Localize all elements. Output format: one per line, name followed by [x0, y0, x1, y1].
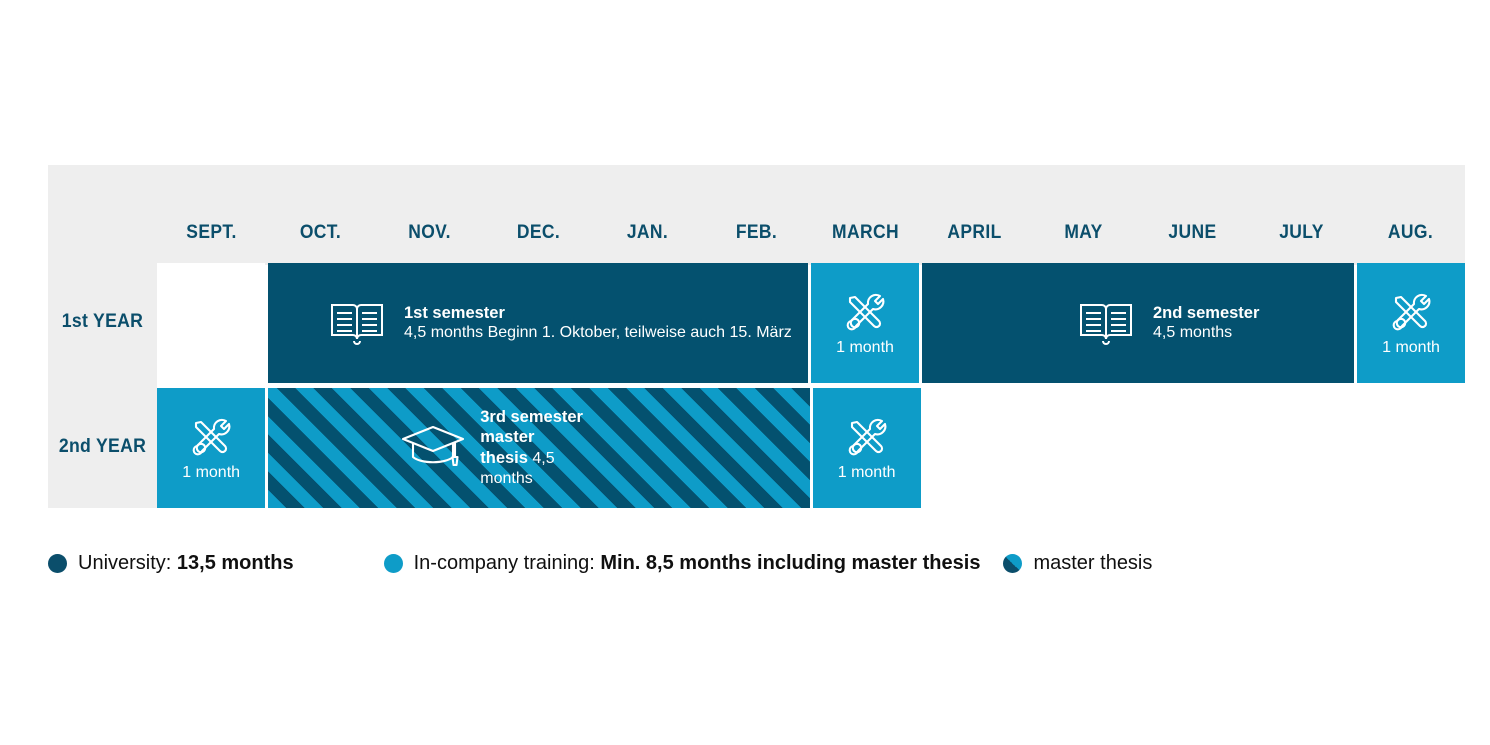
legend-item-master-thesis: master thesis	[1003, 552, 1152, 575]
cell-thesis-title-line1: 3rd semester	[480, 407, 583, 428]
legend-item-university: University: 13,5 months	[48, 552, 294, 575]
cell-1y-1st-semester: 1st semester 4,5 months Beginn 1. Oktobe…	[268, 263, 808, 383]
cell-1st-semester-detail: 4,5 months Beginn 1. Oktober, teilweise …	[404, 323, 792, 343]
infographic-timeline: SEPT. OCT. NOV. DEC. JAN. FEB. MARCH APR…	[0, 0, 1490, 745]
legend: University: 13,5 months In-company train…	[48, 552, 1448, 575]
cell-thesis-detail-unit: months	[480, 469, 583, 489]
cell-1y-sept-empty	[157, 263, 265, 383]
tools-icon	[1388, 290, 1434, 336]
open-book-icon	[328, 301, 386, 345]
legend-swatch-training	[384, 554, 403, 573]
cell-1y-2nd-semester: 2nd semester 4,5 months	[922, 263, 1354, 383]
tools-icon	[188, 415, 234, 461]
timeline-row-1st-year: 1st semester 4,5 months Beginn 1. Oktobe…	[157, 263, 1465, 383]
cell-2y-master-thesis: 3rd semester master thesis 4,5 months	[268, 388, 809, 508]
cell-1y-aug-training: 1 month	[1357, 263, 1465, 383]
month-header-april: APRIL	[924, 222, 1024, 265]
month-header-row: SEPT. OCT. NOV. DEC. JAN. FEB. MARCH APR…	[157, 165, 1465, 265]
cell-2nd-semester-title: 2nd semester	[1153, 303, 1259, 324]
tools-icon	[842, 290, 888, 336]
month-header-feb: FEB.	[706, 222, 806, 265]
tools-icon	[844, 415, 890, 461]
legend-master-thesis-label: master thesis	[1033, 552, 1152, 575]
cell-label-one-month: 1 month	[1382, 340, 1440, 356]
cell-label-one-month: 1 month	[836, 340, 894, 356]
legend-swatch-master-thesis	[1003, 554, 1022, 573]
cell-thesis-detail-number: 4,5	[532, 450, 554, 467]
legend-training-value: Min. 8,5 months including master thesis	[600, 552, 980, 574]
cell-label-one-month: 1 month	[182, 465, 240, 481]
month-header-sept: SEPT.	[161, 222, 261, 265]
timeline-row-2nd-year: 1 month 3rd semester master thesis 4,5 m…	[157, 388, 1465, 508]
row-label-1st-year: 1st YEAR	[52, 311, 153, 333]
cell-2nd-semester-detail: 4,5 months	[1153, 323, 1259, 343]
legend-item-in-company-training: In-company training: Min. 8,5 months inc…	[384, 552, 981, 575]
month-header-nov: NOV.	[379, 222, 479, 265]
cell-2y-march-training: 1 month	[813, 388, 921, 508]
cell-2y-sept-training: 1 month	[157, 388, 265, 508]
month-header-march: MARCH	[815, 222, 915, 265]
cell-label-one-month: 1 month	[838, 465, 896, 481]
cell-thesis-title-line3: thesis	[480, 449, 528, 467]
graduation-cap-icon	[400, 423, 466, 473]
cell-thesis-title-line2: master	[480, 427, 583, 448]
month-header-july: JULY	[1251, 222, 1351, 265]
cell-2y-trailing-blank	[924, 388, 1465, 508]
cell-1st-semester-title: 1st semester	[404, 303, 792, 324]
legend-university-value: 13,5 months	[177, 552, 294, 574]
month-header-aug: AUG.	[1360, 222, 1460, 265]
legend-training-label: In-company training:	[414, 552, 601, 574]
row-label-2nd-year: 2nd YEAR	[52, 436, 153, 458]
legend-swatch-university	[48, 554, 67, 573]
month-header-oct: OCT.	[270, 222, 370, 265]
cell-1y-march-training: 1 month	[811, 263, 919, 383]
month-header-dec: DEC.	[488, 222, 588, 265]
month-header-june: JUNE	[1142, 222, 1242, 265]
month-header-jan: JAN.	[597, 222, 697, 265]
month-header-may: MAY	[1033, 222, 1133, 265]
legend-university-label: University:	[78, 552, 177, 574]
open-book-icon	[1077, 301, 1135, 345]
